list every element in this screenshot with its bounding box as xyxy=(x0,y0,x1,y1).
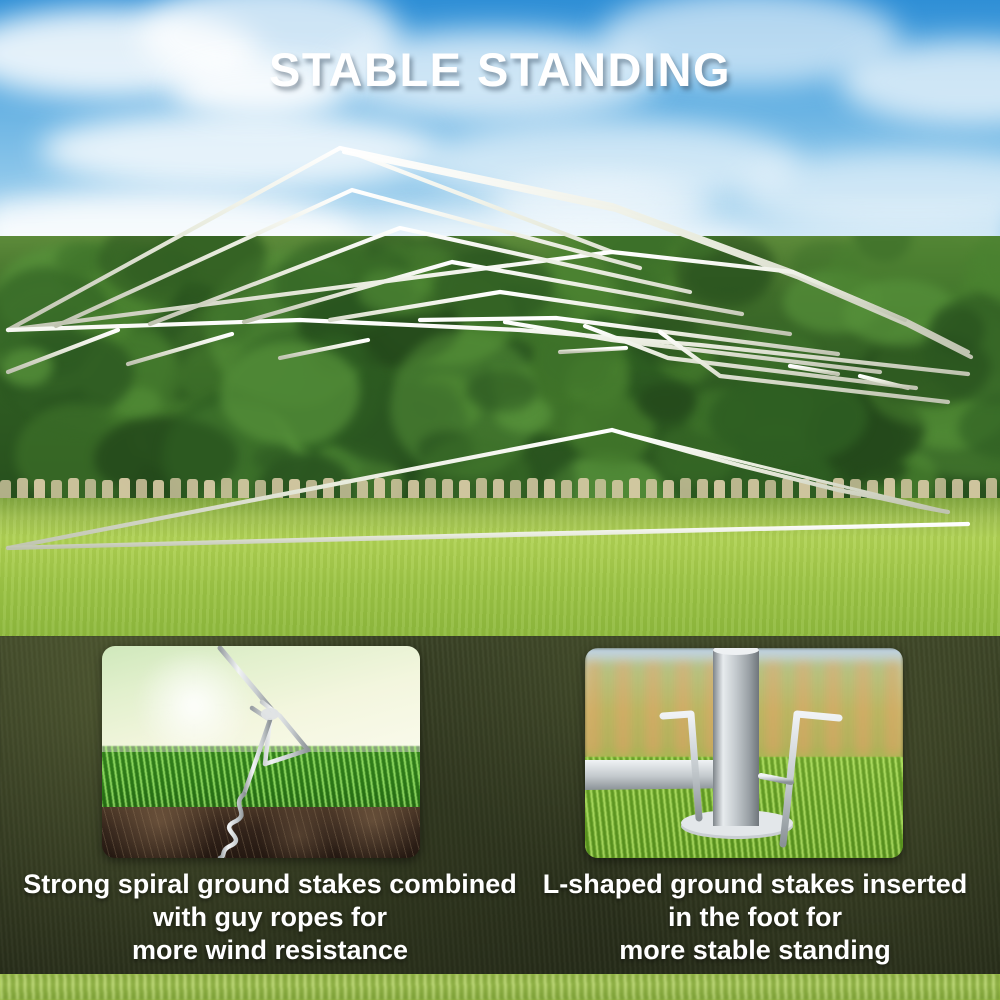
hero-photo: STABLE STANDING xyxy=(0,0,1000,636)
caption-line: more stable standing xyxy=(515,934,995,967)
feature-photo-spiral-stake xyxy=(102,646,420,858)
caption-spiral-stake: Strong spiral ground stakes combined wit… xyxy=(10,868,530,967)
caption-line: more wind resistance xyxy=(10,934,530,967)
page-title: STABLE STANDING xyxy=(0,42,1000,97)
caption-l-stake: L-shaped ground stakes inserted in the f… xyxy=(515,868,995,967)
caption-line: in the foot for xyxy=(515,901,995,934)
caption-line: Strong spiral ground stakes combined xyxy=(10,868,530,901)
caption-line: L-shaped ground stakes inserted xyxy=(515,868,995,901)
product-feature-image: STABLE STANDING xyxy=(0,0,1000,1000)
feature-photo-l-stake xyxy=(585,648,903,858)
caption-line: with guy ropes for xyxy=(10,901,530,934)
bottom-grass-strip xyxy=(0,974,1000,1000)
